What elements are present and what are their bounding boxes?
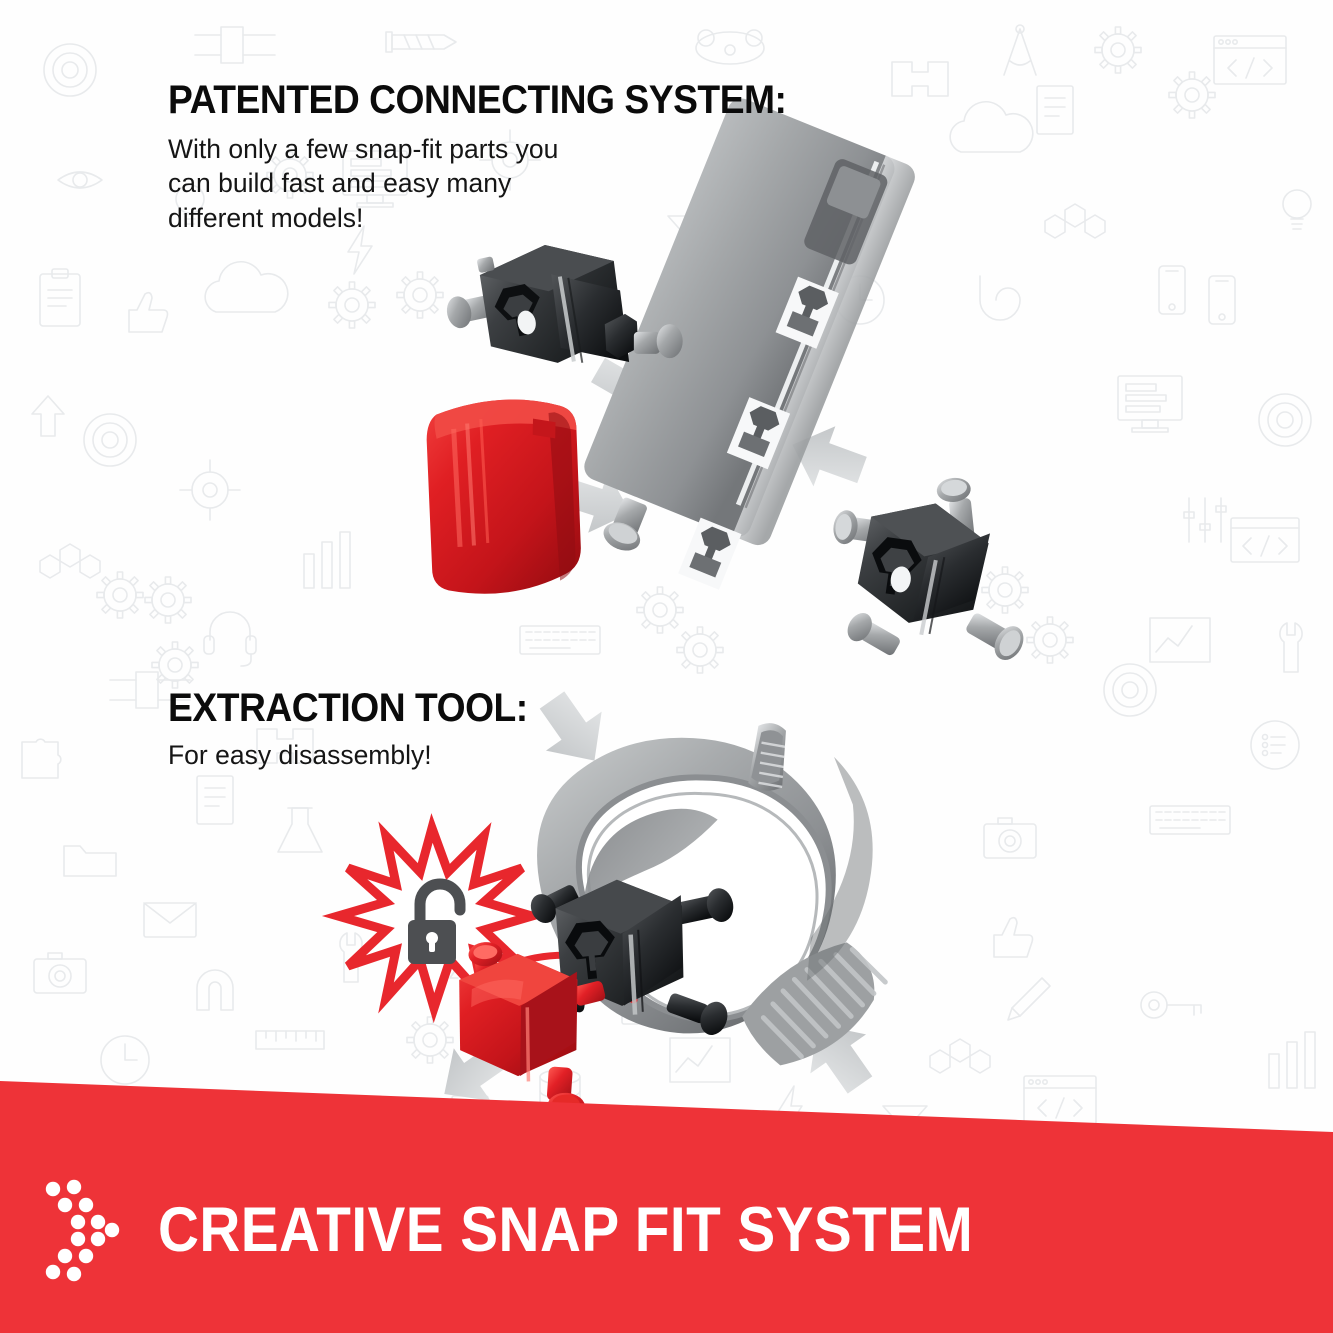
patented-body-line-3: different models! xyxy=(168,201,833,235)
black-cube-connector-tool xyxy=(511,867,748,1059)
black-cube-connector-top xyxy=(437,220,689,404)
red-curved-panel xyxy=(415,392,593,600)
extraction-headline: EXTRACTION TOOL: xyxy=(168,688,528,728)
patented-body: With only a few snap-fit parts you can b… xyxy=(168,132,833,235)
patented-body-line-1: With only a few snap-fit parts you xyxy=(168,132,833,166)
chevron-dots-logo xyxy=(40,1178,136,1283)
section-extraction-tool: EXTRACTION TOOL: For easy disassembly! xyxy=(168,688,555,772)
patented-headline: PATENTED CONNECTING SYSTEM: xyxy=(168,80,786,120)
open-padlock-icon xyxy=(408,884,460,964)
red-cube-connector xyxy=(453,934,615,1130)
extraction-body: For easy disassembly! xyxy=(168,738,555,772)
patented-body-line-2: can build fast and easy many xyxy=(168,166,833,200)
banner-content: CREATIVE SNAP FIT SYSTEM xyxy=(0,1175,1333,1285)
gray-extraction-tool xyxy=(521,707,905,1110)
red-motion-swooshes xyxy=(474,955,634,1006)
banner-title: CREATIVE SNAP FIT SYSTEM xyxy=(158,1199,973,1262)
section-patented-connecting-system: PATENTED CONNECTING SYSTEM: With only a … xyxy=(168,80,833,235)
black-cube-connector-right xyxy=(817,458,1050,675)
unlock-starburst-badge xyxy=(338,828,532,1008)
infographic-page: 010110 101001 011010 xyxy=(0,0,1333,1333)
extraction-body-line-1: For easy disassembly! xyxy=(168,738,555,772)
